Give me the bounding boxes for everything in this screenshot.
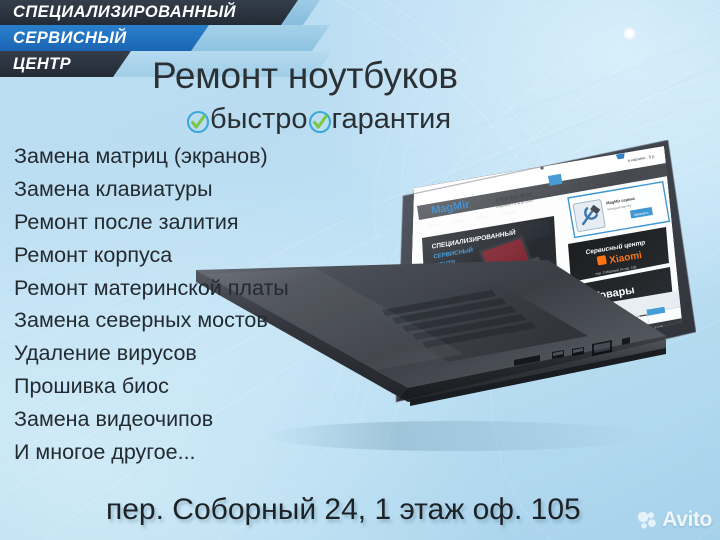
list-item: Ремонт корпуса bbox=[14, 245, 354, 267]
list-item: Замена клавиатуры bbox=[14, 179, 354, 201]
address-text: пер. Соборный 24, 1 этаж оф. 105 bbox=[106, 493, 581, 527]
badge-line-specialized: СПЕЦИАЛИЗИРОВАННЫЙ bbox=[0, 0, 298, 25]
poster-advertisement: MagMir 8 800 350-39-32 Ежедневно с 9:00 … bbox=[0, 0, 720, 540]
list-item: Замена матриц (экранов) bbox=[14, 146, 354, 168]
list-item: Прошивка биос bbox=[14, 376, 354, 398]
list-item: Ремонт материнской платы bbox=[14, 278, 354, 300]
check-circle-icon bbox=[308, 109, 332, 133]
badge-line-service: СЕРВИСНЫЙ bbox=[0, 25, 209, 51]
light-glow-dot bbox=[623, 27, 636, 40]
page-title: Ремонт ноутбуков bbox=[152, 55, 458, 97]
badge-line-specialized-label: СПЕЦИАЛИЗИРОВАННЫЙ bbox=[13, 3, 236, 22]
badge-line-service-label: СЕРВИСНЫЙ bbox=[13, 29, 127, 48]
list-item: И многое другое... bbox=[14, 442, 354, 464]
list-item: Удаление вирусов bbox=[14, 343, 354, 365]
avito-logo-icon bbox=[637, 510, 658, 531]
badge-line-center: ЦЕНТР bbox=[0, 51, 131, 77]
avito-watermark: Avito bbox=[637, 508, 712, 532]
list-item: Замена северных мостов bbox=[14, 310, 354, 332]
avito-wordmark: Avito bbox=[662, 508, 712, 532]
services-list: Замена матриц (экранов) Замена клавиатур… bbox=[14, 146, 354, 475]
badge-line-center-label: ЦЕНТР bbox=[13, 55, 71, 74]
check-circle-icon bbox=[186, 109, 210, 133]
benefits-line: быстро гарантия bbox=[186, 103, 451, 136]
list-item: Ремонт после залития bbox=[14, 212, 354, 234]
list-item: Замена видеочипов bbox=[14, 409, 354, 431]
benefit-warranty-label: гарантия bbox=[332, 103, 452, 136]
benefit-fast-label: быстро bbox=[210, 103, 308, 136]
